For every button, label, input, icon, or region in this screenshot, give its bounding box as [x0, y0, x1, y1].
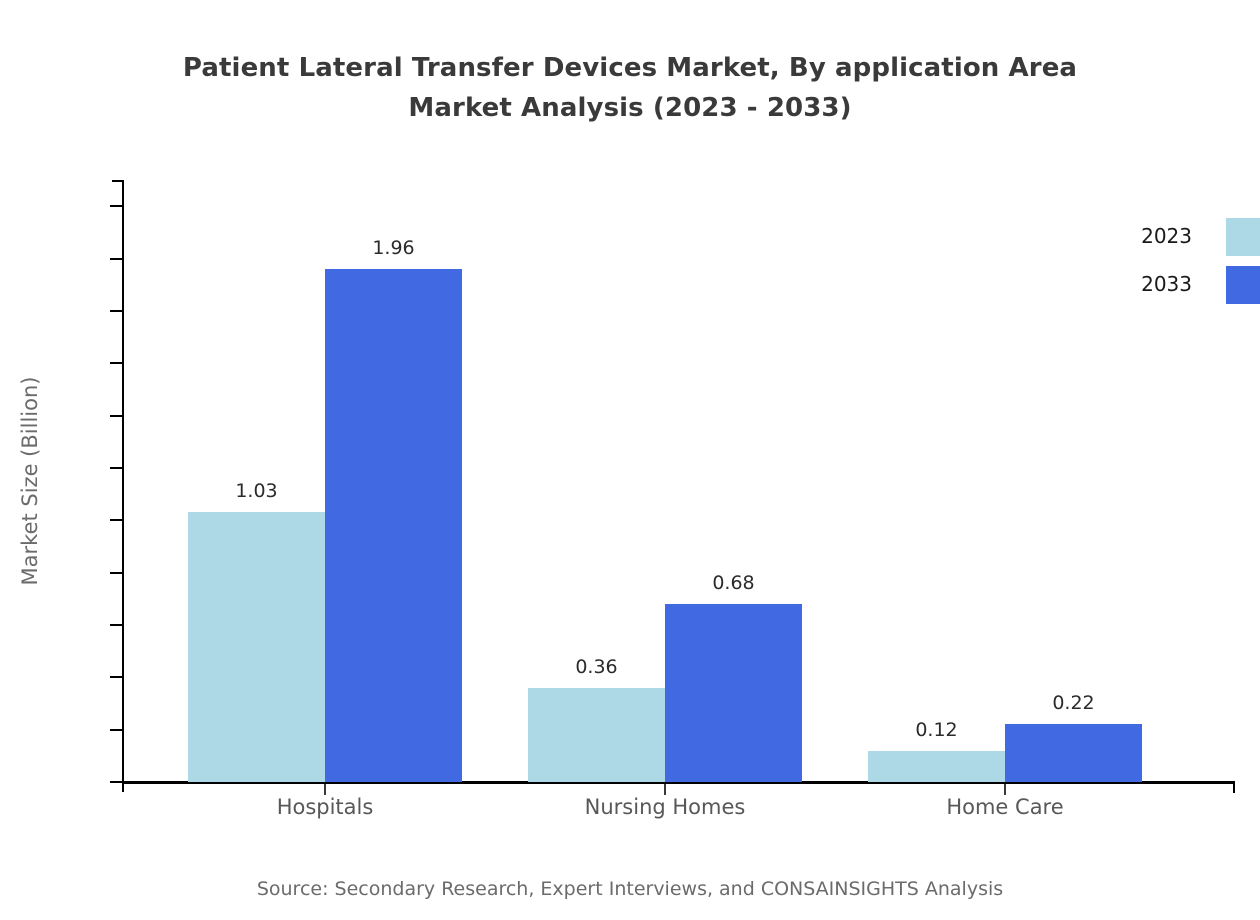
bar-value-label: 0.12	[892, 719, 982, 741]
y-axis-tick-mark	[110, 258, 122, 260]
bar-chart: Patient Lateral Transfer Devices Market,…	[0, 0, 1260, 920]
chart-title-line-2: Market Analysis (2023 - 2033)	[0, 88, 1260, 128]
y-axis-tick-mark	[110, 624, 122, 626]
bar-value-label: 1.03	[212, 480, 302, 502]
legend: 2023 2033	[1130, 218, 1260, 308]
legend-swatch-2023	[1226, 218, 1260, 256]
bar-nursing-homes-2023[interactable]	[528, 688, 665, 782]
legend-item-2033[interactable]: 2033	[1130, 266, 1260, 304]
bar-home-care-2033[interactable]	[1005, 724, 1142, 782]
legend-swatch-2033	[1226, 266, 1260, 304]
y-axis-tick-mark	[110, 467, 122, 469]
y-axis-tick-mark	[110, 729, 122, 731]
chart-title: Patient Lateral Transfer Devices Market,…	[0, 48, 1260, 128]
bar-value-label: 0.68	[689, 572, 779, 594]
y-axis-tick-mark	[110, 362, 122, 364]
x-axis-end-cap	[1233, 781, 1235, 793]
y-axis-tick-mark	[110, 781, 122, 783]
bar-hospitals-2023[interactable]	[188, 512, 325, 782]
legend-label-2033: 2033	[1130, 272, 1192, 296]
y-axis-tick-mark	[110, 415, 122, 417]
x-axis-tick-mark	[664, 784, 666, 795]
x-axis-label-home-care: Home Care	[946, 795, 1063, 819]
source-note: Source: Secondary Research, Expert Inter…	[0, 878, 1260, 900]
y-axis-tick-mark	[110, 310, 122, 312]
bar-value-label: 0.22	[1029, 692, 1119, 714]
bar-value-label: 1.96	[349, 237, 439, 259]
x-axis-tick-mark	[1004, 784, 1006, 795]
x-axis-tick-mark	[324, 784, 326, 795]
bar-value-label: 0.36	[552, 656, 642, 678]
y-axis-tick-mark	[110, 676, 122, 678]
bar-hospitals-2033[interactable]	[325, 269, 462, 782]
x-axis-label-nursing-homes: Nursing Homes	[585, 795, 746, 819]
x-axis-label-hospitals: Hospitals	[277, 795, 374, 819]
chart-title-line-1: Patient Lateral Transfer Devices Market,…	[183, 53, 1077, 83]
y-axis-tick-mark	[110, 519, 122, 521]
y-axis-title: Market Size (Billion)	[18, 377, 42, 586]
legend-item-2023[interactable]: 2023	[1130, 218, 1260, 256]
plot-area: 1.031.960.360.680.120.22	[122, 180, 1235, 782]
legend-label-2023: 2023	[1130, 224, 1192, 248]
bar-nursing-homes-2033[interactable]	[665, 604, 802, 782]
y-axis-tick-mark	[110, 205, 122, 207]
bar-home-care-2023[interactable]	[868, 751, 1005, 782]
y-axis-tick-mark	[110, 572, 122, 574]
